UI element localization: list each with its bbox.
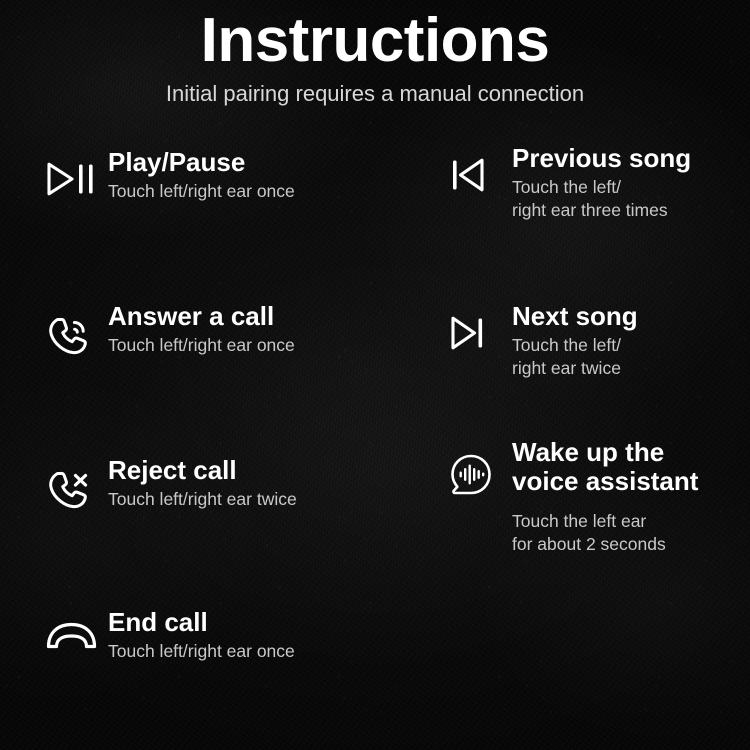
previous-track-icon (448, 144, 508, 194)
instruction-text-group: Previous song Touch the left/ right ear … (508, 144, 691, 221)
instruction-title: Next song (512, 302, 638, 331)
answer-call-icon (44, 302, 104, 358)
instruction-description: Touch the left ear for about 2 seconds (512, 510, 698, 555)
instruction-title: Answer a call (108, 302, 295, 331)
instructions-poster: Instructions Initial pairing requires a … (0, 0, 750, 750)
instruction-description: Touch left/right ear twice (108, 488, 297, 510)
instruction-title: Play/Pause (108, 148, 295, 177)
instruction-item-reject-call: Reject call Touch left/right ear twice (44, 456, 297, 512)
instruction-text-group: Play/Pause Touch left/right ear once (104, 148, 295, 203)
instruction-item-end-call: End call Touch left/right ear once (44, 608, 295, 663)
instruction-title: Reject call (108, 456, 297, 485)
instruction-description: Touch the left/ right ear twice (512, 334, 638, 379)
page-subtitle: Initial pairing requires a manual connec… (0, 81, 750, 107)
instruction-item-answer-call: Answer a call Touch left/right ear once (44, 302, 295, 358)
next-track-icon (448, 302, 508, 352)
instruction-text-group: Answer a call Touch left/right ear once (104, 302, 295, 357)
poster-content: Instructions Initial pairing requires a … (0, 0, 750, 750)
voice-assistant-icon (448, 438, 508, 498)
instruction-description: Touch the left/ right ear three times (512, 176, 691, 221)
instruction-title: Wake up the voice assistant (512, 438, 698, 496)
instruction-item-previous-song: Previous song Touch the left/ right ear … (448, 144, 691, 221)
instruction-item-play-pause: Play/Pause Touch left/right ear once (44, 148, 295, 203)
instruction-text-group: Next song Touch the left/ right ear twic… (508, 302, 638, 379)
instruction-description: Touch left/right ear once (108, 640, 295, 662)
end-call-icon (44, 608, 104, 654)
reject-call-icon (44, 456, 104, 512)
instruction-item-next-song: Next song Touch the left/ right ear twic… (448, 302, 638, 379)
instruction-title: End call (108, 608, 295, 637)
instruction-description: Touch left/right ear once (108, 334, 295, 356)
instruction-text-group: End call Touch left/right ear once (104, 608, 295, 663)
poster-header: Instructions Initial pairing requires a … (0, 0, 750, 107)
instruction-text-group: Reject call Touch left/right ear twice (104, 456, 297, 511)
instruction-text-group: Wake up the voice assistant Touch the le… (508, 438, 698, 555)
instruction-item-voice-assistant: Wake up the voice assistant Touch the le… (448, 438, 698, 555)
instruction-columns: Play/Pause Touch left/right ear once Ans… (0, 140, 750, 750)
instruction-description: Touch left/right ear once (108, 180, 295, 202)
page-title: Instructions (0, 8, 750, 73)
instruction-title: Previous song (512, 144, 691, 173)
play-pause-icon (44, 148, 104, 198)
